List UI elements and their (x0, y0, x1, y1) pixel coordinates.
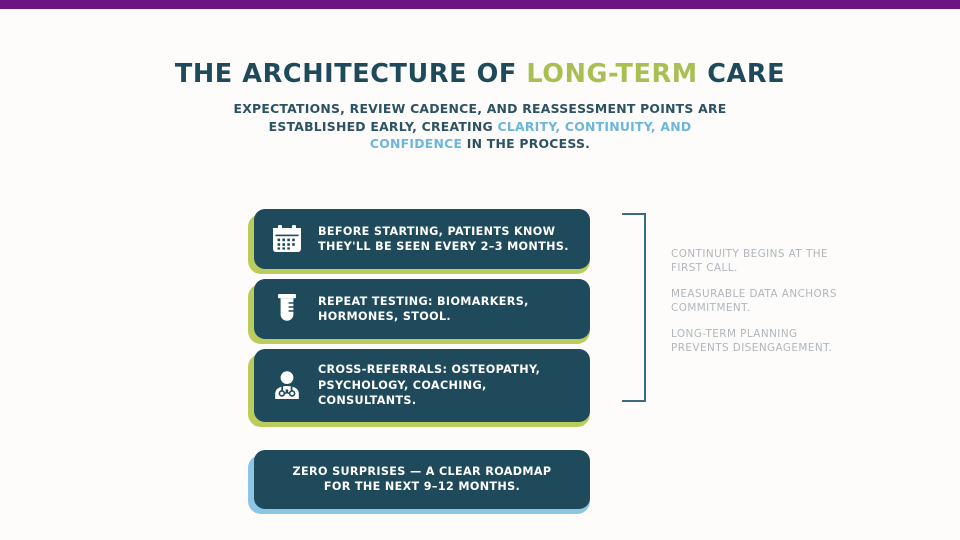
side-note-line-2: PREVENTS DISENGAGEMENT. (671, 342, 832, 354)
summary-card-wrapper[interactable]: ZERO SURPRISES — A CLEAR ROADMAP FOR THE… (248, 450, 594, 509)
summary-line-1: ZERO SURPRISES — A CLEAR ROADMAP (293, 465, 552, 478)
side-note-line-1: CONTINUITY BEGINS AT THE (671, 248, 828, 260)
card-testing[interactable]: REPEAT TESTING: BIOMARKERS, HORMONES, ST… (254, 279, 590, 339)
page-subtitle: EXPECTATIONS, REVIEW CADENCE, AND REASSE… (230, 100, 730, 153)
subtitle-line-2-post: IN THE PROCESS. (462, 136, 590, 151)
page-title: THE ARCHITECTURE OF LONG-TERM CARE (0, 59, 960, 89)
top-accent-bar (0, 0, 960, 9)
side-notes-list: CONTINUITY BEGINS AT THE FIRST CALL. MEA… (671, 248, 881, 355)
bracket-vertical-line (644, 213, 646, 402)
card-line-2: HORMONES, STOOL. (318, 310, 451, 323)
bracket-top-tick (622, 213, 646, 215)
card-line-1: BEFORE STARTING, PATIENTS KNOW (318, 225, 555, 238)
side-note: LONG-TERM PLANNING PREVENTS DISENGAGEMEN… (671, 328, 881, 355)
title-text-part2: CARE (698, 59, 785, 89)
card-list: BEFORE STARTING, PATIENTS KNOW THEY'LL B… (248, 209, 594, 509)
card-line-1: REPEAT TESTING: BIOMARKERS, (318, 295, 529, 308)
side-note: MEASURABLE DATA ANCHORS COMMITMENT. (671, 288, 881, 315)
card-group-divider (248, 432, 594, 450)
card-line-1: CROSS-REFERRALS: OSTEOPATHY, (318, 363, 540, 376)
calendar-icon (270, 222, 304, 256)
side-note-line-1: MEASURABLE DATA ANCHORS (671, 288, 837, 300)
bracket-bottom-tick (622, 400, 646, 402)
card-line-2: THEY'LL BE SEEN EVERY 2–3 MONTHS. (318, 240, 569, 253)
summary-card-label: ZERO SURPRISES — A CLEAR ROADMAP FOR THE… (293, 464, 552, 495)
subtitle-line-1: EXPECTATIONS, REVIEW CADENCE, AND REASSE… (234, 101, 694, 116)
title-text-part1: THE ARCHITECTURE OF (175, 59, 526, 89)
side-note-line-2: FIRST CALL. (671, 262, 738, 274)
test-tube-icon (270, 292, 304, 326)
card-label: REPEAT TESTING: BIOMARKERS, HORMONES, ST… (318, 294, 529, 325)
grouping-bracket (622, 213, 646, 402)
card-calendar[interactable]: BEFORE STARTING, PATIENTS KNOW THEY'LL B… (254, 209, 590, 269)
list-item[interactable]: BEFORE STARTING, PATIENTS KNOW THEY'LL B… (248, 209, 594, 269)
list-item[interactable]: REPEAT TESTING: BIOMARKERS, HORMONES, ST… (248, 279, 594, 339)
side-note-line-2: COMMITMENT. (671, 302, 750, 314)
side-note: CONTINUITY BEGINS AT THE FIRST CALL. (671, 248, 881, 275)
list-item[interactable]: CROSS-REFERRALS: OSTEOPATHY, PSYCHOLOGY,… (248, 349, 594, 422)
card-label: CROSS-REFERRALS: OSTEOPATHY, PSYCHOLOGY,… (318, 362, 576, 409)
card-referrals[interactable]: CROSS-REFERRALS: OSTEOPATHY, PSYCHOLOGY,… (254, 349, 590, 422)
summary-line-2: FOR THE NEXT 9–12 MONTHS. (324, 480, 520, 493)
doctor-icon (270, 368, 304, 402)
summary-card[interactable]: ZERO SURPRISES — A CLEAR ROADMAP FOR THE… (254, 450, 590, 509)
card-line-2: PSYCHOLOGY, COACHING, CONSULTANTS. (318, 379, 487, 408)
title-text-accent: LONG-TERM (526, 59, 697, 89)
side-note-line-1: LONG-TERM PLANNING (671, 328, 798, 340)
slide-stage: THE ARCHITECTURE OF LONG-TERM CARE EXPEC… (0, 9, 960, 540)
card-label: BEFORE STARTING, PATIENTS KNOW THEY'LL B… (318, 224, 569, 255)
